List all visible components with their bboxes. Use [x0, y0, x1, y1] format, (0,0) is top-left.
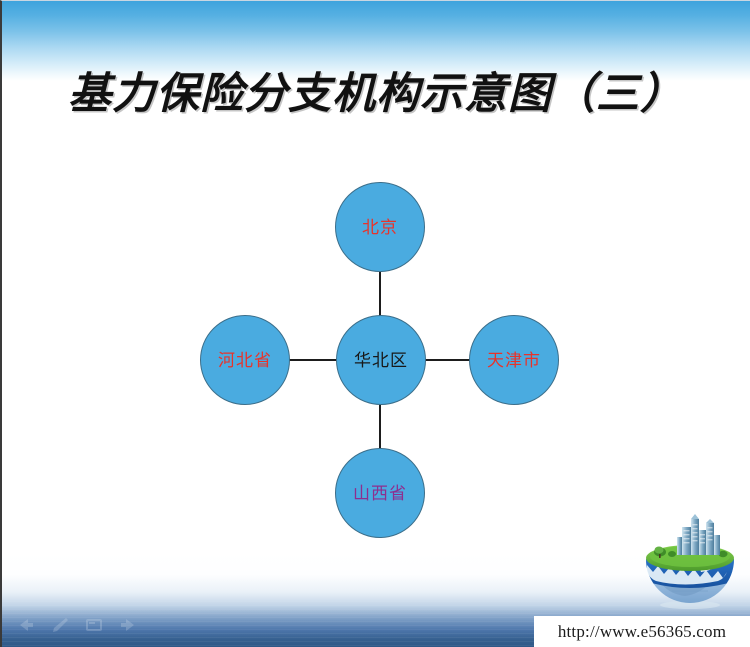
node-shanxisheng-label: 山西省 — [353, 484, 407, 503]
node-hebeisheng[interactable]: 河北省 — [200, 315, 290, 405]
website-url-text: http://www.e56365.com — [558, 622, 726, 642]
node-tianjinshi-label: 天津市 — [487, 351, 541, 370]
pen-tool-icon[interactable] — [50, 616, 70, 633]
node-beijing[interactable]: 北京 — [335, 182, 425, 272]
connector-center-to-top — [379, 269, 381, 317]
presentation-slide: 基力保险分支机构示意图（三） 北京 河北省 华北区 天津市 山西省 — [0, 0, 750, 647]
globe-city-logo — [638, 513, 742, 609]
node-hebeisheng-label: 河北省 — [218, 351, 272, 370]
connector-center-to-right — [423, 359, 470, 361]
node-huabeiqu[interactable]: 华北区 — [336, 315, 426, 405]
node-huabeiqu-label: 华北区 — [354, 351, 408, 370]
slideshow-nav-controls[interactable] — [16, 616, 138, 633]
node-tianjinshi[interactable]: 天津市 — [469, 315, 559, 405]
slide-menu-icon[interactable] — [84, 616, 104, 633]
node-shanxisheng[interactable]: 山西省 — [335, 448, 425, 538]
connector-center-to-left — [288, 359, 336, 361]
website-url-plate: http://www.e56365.com — [534, 616, 750, 647]
connector-center-to-bottom — [379, 403, 381, 449]
node-beijing-label: 北京 — [362, 218, 398, 237]
previous-slide-icon[interactable] — [16, 616, 36, 633]
next-slide-icon[interactable] — [118, 616, 138, 633]
